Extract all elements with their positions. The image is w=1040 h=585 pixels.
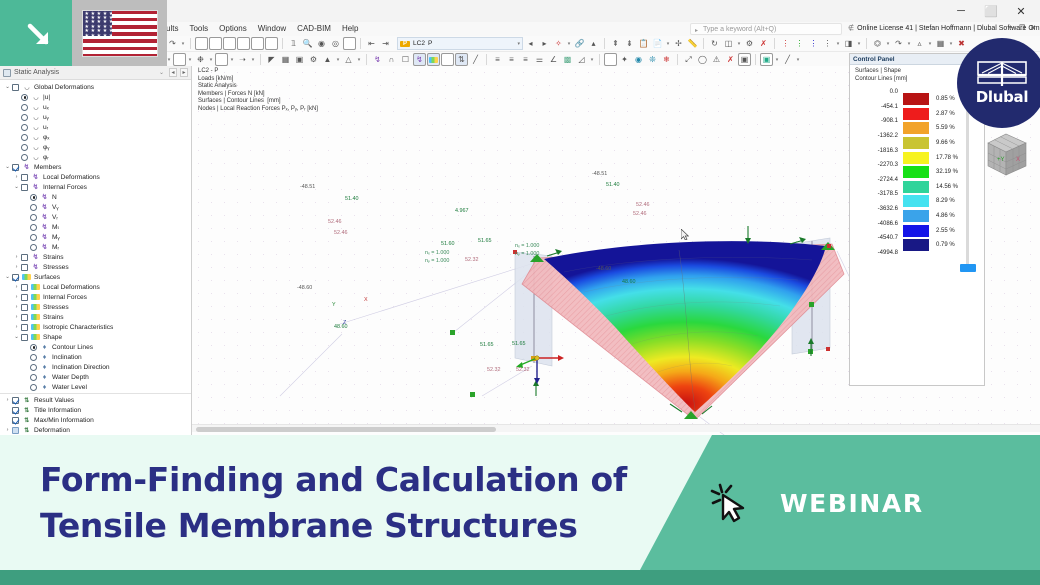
deformation-icon: ◡ (31, 133, 40, 141)
tree-item[interactable]: ›↯Local Deformations (0, 172, 191, 182)
tree-item[interactable]: ›Isotropic Characteristics (0, 322, 191, 332)
result-icon: ⇅ (22, 406, 31, 414)
legend-percentage: 9.66 % (930, 140, 955, 146)
tree-item[interactable]: ↯N (0, 192, 191, 202)
tree-item[interactable]: ◡φᵧ (0, 142, 191, 152)
report-icon[interactable] (265, 37, 278, 50)
tree-item[interactable]: ◡uₓ (0, 102, 191, 112)
calculate-icon[interactable]: 𝟙 (287, 37, 300, 50)
load-case-next-icon[interactable]: ⇥ (379, 37, 392, 50)
legend-slider-thumb[interactable] (960, 264, 976, 272)
tree-item[interactable]: ›⇅Deformation (0, 425, 191, 435)
legend-swatch[interactable] (902, 136, 930, 150)
tree-item[interactable]: ◡φₓ (0, 132, 191, 142)
toolbar-separator (866, 38, 867, 49)
scale-dropdown-icon[interactable]: ▾ (736, 37, 742, 50)
minimize-icon[interactable]: ─ (946, 1, 976, 21)
tree-item-label: φᵧ (43, 144, 49, 151)
tree-item[interactable]: ↯Mᵧ (0, 232, 191, 242)
axis-dropdown-icon[interactable]: ▾ (835, 37, 841, 50)
tree-item-label: Stresses (43, 304, 69, 311)
tree-item[interactable]: ◡uᵧ (0, 112, 191, 122)
tree-item[interactable]: ⇅Max/Min Information (0, 415, 191, 425)
support-dropdown-icon[interactable]: ▾ (885, 37, 891, 50)
tree-checkbox[interactable] (12, 397, 19, 404)
isosurface-icon[interactable]: ≡ (505, 53, 518, 66)
tree-item-label: Vᵧ (52, 204, 59, 211)
screenshot-icon[interactable]: ▣ (738, 53, 751, 66)
tree-checkbox[interactable] (21, 254, 28, 261)
chevron-down-icon[interactable]: ▾ (517, 41, 520, 47)
tree-checkbox[interactable] (21, 324, 28, 331)
legend-swatch[interactable] (902, 194, 930, 208)
menu-items: sults Tools Options Window CAD-BIM Help (162, 22, 358, 36)
legend-slider-track[interactable] (966, 98, 969, 266)
member-icon: ↯ (40, 223, 49, 231)
model-label: nₓ = 1.000 (425, 250, 449, 256)
tree-radio[interactable] (30, 244, 37, 251)
tree-item[interactable]: ↯Vᵣ (0, 212, 191, 222)
shape-icon: ♦ (40, 373, 49, 381)
tree-radio[interactable] (30, 234, 37, 241)
legend-swatch[interactable] (902, 121, 930, 135)
language-flag-badge[interactable]: ★★★★★★★★★★★★★★★★★★★★★★★★★★★★★★★★★ (72, 0, 167, 66)
paste-dropdown-icon[interactable]: ▾ (665, 37, 671, 50)
navigator-tree[interactable]: ⌄◡Global Deformations◡|u|◡uₓ◡uᵧ◡uᵣ◡φₓ◡φᵧ… (0, 80, 191, 393)
tree-radio[interactable] (21, 124, 28, 131)
tree-expander[interactable]: ⌄ (12, 334, 21, 340)
tree-checkbox[interactable] (21, 334, 28, 341)
window-controls: ─ ⬜ ✕ (946, 0, 1036, 22)
tree-item-label: Strains (43, 254, 64, 261)
menu-item-window[interactable]: Window (258, 22, 286, 36)
tree-checkbox[interactable] (12, 164, 19, 171)
menu-item-cadbim[interactable]: CAD-BIM (297, 22, 331, 36)
view-window-icon[interactable] (195, 37, 208, 50)
material-icon[interactable]: ❉ (194, 53, 207, 66)
menu-item-options[interactable]: Options (219, 22, 247, 36)
zoom-region-icon[interactable] (343, 37, 356, 50)
webinar-banner: Form-Finding and Calculation of Tensile … (0, 435, 1040, 585)
keyword-search-input[interactable]: ▸ Type a keyword (Alt+Q) (690, 23, 842, 35)
load-case-chip: P (400, 41, 410, 47)
doc-close-icon[interactable]: ✕ (1030, 23, 1036, 35)
link-icon[interactable]: 🔗 (573, 37, 586, 50)
zoom-out-icon[interactable]: ◎ (329, 37, 342, 50)
tree-item-label: Deformation (34, 427, 70, 434)
doc-minimize-icon[interactable]: ─ (1009, 23, 1014, 35)
tree-item[interactable]: ♦Water Level (0, 382, 191, 392)
dimension-icon[interactable]: ⤢ (682, 53, 695, 66)
tree-radio[interactable] (21, 104, 28, 111)
scale-factor-dropdown-icon[interactable]: ▾ (795, 53, 801, 66)
search-object-icon[interactable]: ⚙ (743, 37, 756, 50)
legend-swatch[interactable] (902, 180, 930, 194)
tree-item-label: Isotropic Characteristics (43, 324, 113, 331)
render-mode-icon[interactable]: ▣ (760, 53, 773, 66)
dlubal-mark-icon (976, 60, 1028, 86)
legend-value: -1816.3 (850, 148, 902, 154)
legend-swatch[interactable] (902, 92, 930, 106)
nodal-support-icon[interactable]: ▲ (321, 53, 334, 66)
polar-icon[interactable]: ❊ (646, 53, 659, 66)
tree-item[interactable]: ♦Contour Lines (0, 342, 191, 352)
viewport-horizontal-scrollbar[interactable] (192, 424, 1040, 432)
surface-gradient-icon (429, 57, 438, 63)
nav-left-icon[interactable]: ◂ (524, 37, 537, 50)
tree-expander[interactable]: › (12, 314, 21, 320)
snap-point-icon[interactable]: ✦ (618, 53, 631, 66)
menu-item-tools[interactable]: Tools (189, 22, 208, 36)
tb2-caret-7[interactable]: ▾ (356, 53, 362, 66)
navigator-tree-bottom[interactable]: ›⇅Result Values⇅Title Information⇅Max/Mi… (0, 393, 191, 435)
banner-title-line2: Tensile Membrane Structures (40, 503, 700, 549)
section-icon[interactable]: ◨ (842, 37, 855, 50)
tree-item[interactable]: ◡φᵣ (0, 152, 191, 162)
toolbar-separator (282, 38, 283, 49)
tree-item[interactable]: ♦Inclination Direction (0, 362, 191, 372)
isobands-icon[interactable]: ≡ (491, 53, 504, 66)
tree-item[interactable]: ◡uᵣ (0, 122, 191, 132)
legend-percentage: 5.59 % (930, 125, 955, 131)
model-label: 52.32 (516, 367, 530, 373)
tb2-caret-6[interactable]: ▾ (335, 53, 341, 66)
rotate-icon[interactable]: ↻ (708, 37, 721, 50)
line-draw-icon[interactable]: ➝ (236, 53, 249, 66)
tree-radio[interactable] (30, 204, 37, 211)
shape-icon: ♦ (40, 353, 49, 361)
toolbar-separator (703, 38, 704, 49)
dlubal-logo-text: Dlubal (976, 88, 1028, 106)
tree-item[interactable]: ›Stresses (0, 302, 191, 312)
copy-icon[interactable]: 📋 (637, 37, 650, 50)
legend-value: -4540.7 (850, 235, 902, 241)
filter-dropdown-icon[interactable]: ▾ (566, 37, 572, 50)
tree-item-label: Surfaces (34, 274, 60, 281)
deformation-icon: ◡ (31, 113, 40, 121)
scale-factor-icon[interactable]: ╱ (781, 53, 794, 66)
legend-swatch[interactable] (902, 238, 930, 252)
tree-radio[interactable] (21, 134, 28, 141)
download-badge[interactable] (0, 0, 72, 66)
tree-radio[interactable] (30, 384, 37, 391)
tree-radio[interactable] (21, 154, 28, 161)
view-render-icon[interactable] (237, 37, 250, 50)
toolbar-separator (755, 54, 756, 65)
legend-swatch[interactable] (902, 151, 930, 165)
shape-icon: ♦ (40, 343, 49, 351)
tree-radio[interactable] (30, 364, 37, 371)
tree-item-label: Contour Lines (52, 344, 93, 351)
delete-object-icon[interactable]: ✗ (757, 37, 770, 50)
cancel-icon[interactable]: ✗ (724, 53, 737, 66)
toolbar-separator (260, 54, 261, 65)
results-surfaces-icon[interactable] (427, 53, 440, 66)
member-icon: ↯ (31, 263, 40, 271)
tree-expander[interactable]: › (12, 284, 21, 290)
angle-icon[interactable]: ∠ (547, 53, 560, 66)
tree-expander[interactable]: › (3, 427, 12, 433)
tree-item[interactable]: ↯Vᵧ (0, 202, 191, 212)
gradient-legend-icon[interactable]: ◿ (575, 53, 588, 66)
tree-radio[interactable] (30, 194, 37, 201)
axis-z-icon[interactable]: ⋮ (807, 37, 820, 50)
load-case-prev-icon[interactable]: ⇤ (365, 37, 378, 50)
tree-radio[interactable] (30, 374, 37, 381)
navigator-title: Static Analysis (14, 69, 156, 76)
legend-swatch[interactable] (902, 165, 930, 179)
show-solids-icon[interactable]: ☐ (399, 53, 412, 66)
undo-icon[interactable]: ↷ (166, 37, 179, 50)
zoom-in-icon[interactable]: 🔍 (301, 37, 314, 50)
tree-item[interactable]: ♦Water Depth (0, 372, 191, 382)
legend-value: -3178.5 (850, 191, 902, 197)
doc-restore-icon[interactable]: ❐ (1019, 23, 1025, 35)
legend-percentage: 8.29 % (930, 198, 955, 204)
axis-all-icon[interactable]: ⋮ (821, 37, 834, 50)
legend-percentage: 2.87 % (930, 111, 955, 117)
maximize-icon[interactable]: ⬜ (976, 1, 1006, 21)
comment-icon[interactable]: ◯ (696, 53, 709, 66)
color-map-icon[interactable]: ▩ (561, 53, 574, 66)
navigator-next-button[interactable]: ▸ (180, 68, 188, 77)
chevron-down-icon[interactable]: ⌄ (159, 69, 164, 76)
surface-draw-icon[interactable]: ◤ (265, 53, 278, 66)
tree-checkbox[interactable] (21, 294, 28, 301)
model-label: -48.60 (297, 285, 312, 291)
model-label: nᵧ = 1.000 (425, 258, 449, 264)
model-label: 52.32 (465, 257, 479, 263)
line-support-icon[interactable]: △ (342, 53, 355, 66)
us-flag-icon: ★★★★★★★★★★★★★★★★★★★★★★★★★★★★★★★★★ (82, 10, 158, 57)
tree-item[interactable]: ♦Inclination (0, 352, 191, 362)
tree-checkbox[interactable] (21, 304, 28, 311)
tb2-caret-5[interactable]: ▾ (250, 53, 256, 66)
load-case-code: LC2 (413, 40, 425, 47)
load-dropdown-icon[interactable]: ▾ (906, 37, 912, 50)
tree-item[interactable]: ◡|u| (0, 92, 191, 102)
view-tile-icon[interactable] (209, 37, 222, 50)
tree-item[interactable]: ⌄Shape (0, 332, 191, 342)
toolbar-separator (366, 54, 367, 65)
tree-radio[interactable] (30, 224, 37, 231)
tree-radio[interactable] (30, 214, 37, 221)
banner-title: Form-Finding and Calculation of Tensile … (40, 457, 700, 549)
measure-icon[interactable]: 📏 (686, 37, 699, 50)
tree-item-label: Vᵣ (52, 214, 58, 221)
view-navigation-cube[interactable]: +Y X (980, 129, 1032, 181)
legend-percentage: 0.79 % (930, 242, 955, 248)
tree-item[interactable]: ⌄↯Members (0, 162, 191, 172)
tree-radio[interactable] (30, 344, 37, 351)
mesh-icon[interactable]: ▴ (587, 37, 600, 50)
tree-radio[interactable] (21, 94, 28, 101)
legend-percentage: 2.55 % (930, 228, 955, 234)
tb2-caret-4[interactable]: ▾ (229, 53, 235, 66)
diagram-icon[interactable]: ⚌ (533, 53, 546, 66)
tb2-caret-3[interactable]: ▾ (208, 53, 214, 66)
tree-expander[interactable]: › (12, 174, 21, 180)
snap-grid-icon[interactable] (604, 53, 617, 66)
toolbar-separator (677, 54, 678, 65)
paste-icon[interactable]: 📄 (651, 37, 664, 50)
tree-radio[interactable] (30, 354, 37, 361)
tree-checkbox[interactable] (21, 314, 28, 321)
warning-icon[interactable]: ⚠ (710, 53, 723, 66)
model-label: 52.46 (328, 219, 342, 225)
toolbar-separator (599, 54, 600, 65)
model-label: 52.46 (633, 211, 647, 217)
tree-expander[interactable]: ⌄ (3, 164, 12, 170)
section-dropdown-icon[interactable]: ▾ (856, 37, 862, 50)
node-dropdown-icon[interactable]: ▾ (927, 37, 933, 50)
opening-icon[interactable]: ▣ (293, 53, 306, 66)
tree-checkbox[interactable] (12, 274, 19, 281)
flag-stars: ★★★★★★★★★★★★★★★★★★★★★★★★★★★★★★★★★ (83, 11, 113, 36)
tree-checkbox[interactable] (12, 417, 19, 424)
tree-item[interactable]: ›↯Strains (0, 252, 191, 262)
surface-icon (31, 333, 40, 341)
axis-x-icon[interactable]: ⋮ (779, 37, 792, 50)
node-icon[interactable]: ▵ (913, 37, 926, 50)
tree-checkbox[interactable] (12, 407, 19, 414)
support-icon[interactable]: ⏣ (871, 37, 884, 50)
svg-text:X: X (1016, 157, 1020, 163)
tree-item-label: Local Deformations (43, 174, 100, 181)
tb2-caret-8[interactable]: ▾ (589, 53, 595, 66)
legend-swatch[interactable] (902, 209, 930, 223)
grid-icon[interactable]: ▦ (934, 37, 947, 50)
tree-item[interactable]: ⌄Surfaces (0, 272, 191, 282)
legend-value: -908.1 (850, 118, 902, 124)
tree-expander[interactable]: › (12, 294, 21, 300)
grid-dropdown-icon[interactable]: ▾ (948, 37, 954, 50)
dim-up-icon[interactable]: ⇞ (609, 37, 622, 50)
tree-item[interactable]: ›Internal Forces (0, 292, 191, 302)
dlubal-logo: Dlubal (957, 38, 1040, 128)
tree-item-label: Result Values (34, 397, 74, 404)
tree-item[interactable]: ›⇅Result Values (0, 395, 191, 405)
osnap-icon[interactable]: ❄ (660, 53, 673, 66)
tree-expander[interactable]: › (12, 324, 21, 330)
close-icon[interactable]: ✕ (1006, 1, 1036, 21)
legend-percentage: 0.85 % (930, 96, 955, 102)
navigator-header: Static Analysis ⌄ ◂ ▸ (0, 66, 191, 80)
tree-expander[interactable]: › (12, 254, 21, 260)
move-icon[interactable]: ✢ (672, 37, 685, 50)
model-label: 51.65 (478, 238, 492, 244)
load-icon[interactable]: ↷ (892, 37, 905, 50)
tree-expander[interactable]: ⌄ (12, 184, 21, 190)
toolbar-separator (360, 38, 361, 49)
tree-checkbox[interactable] (21, 184, 28, 191)
undo-dropdown-icon[interactable]: ▾ (180, 37, 186, 50)
tree-item[interactable]: ›⇅Support Reactions (0, 392, 191, 393)
section-library-icon[interactable] (215, 53, 228, 66)
view-split-icon[interactable] (223, 37, 236, 50)
render-dropdown-icon[interactable]: ▾ (774, 53, 780, 66)
member-icon: ↯ (31, 183, 40, 191)
load-case-selector[interactable]: P LC2 P ▾ (397, 37, 523, 50)
clear-results-icon[interactable]: ✖ (955, 37, 968, 50)
print-icon[interactable] (251, 37, 264, 50)
release-icon[interactable]: ⚙ (307, 53, 320, 66)
tb2-caret-2[interactable]: ▾ (187, 53, 193, 66)
tree-checkbox[interactable] (21, 264, 28, 271)
license-icon: ∉ (848, 23, 854, 35)
model-label: -48.60 (596, 266, 611, 272)
navigator-icon (3, 69, 11, 77)
toolbar-separator (486, 54, 487, 65)
contour-icon[interactable]: ≡ (519, 53, 532, 66)
tree-checkbox[interactable] (21, 174, 28, 181)
isoline-icon[interactable]: ╱ (469, 53, 482, 66)
tree-checkbox[interactable] (21, 284, 28, 291)
dim-down-icon[interactable]: ⇟ (623, 37, 636, 50)
results-members-icon[interactable]: ↯ (413, 53, 426, 66)
legend-swatch[interactable] (902, 107, 930, 121)
tree-expander[interactable]: › (3, 397, 12, 403)
tree-expander[interactable]: › (12, 264, 21, 270)
member-icon: ↯ (40, 233, 49, 241)
tree-item[interactable]: ↯Mₜ (0, 222, 191, 232)
show-members-icon[interactable]: ∩ (385, 53, 398, 66)
tree-checkbox[interactable] (12, 84, 19, 91)
tree-item[interactable]: ›↯Stresses (0, 262, 191, 272)
ortho-icon[interactable]: ◉ (632, 53, 645, 66)
zoom-fit-icon[interactable]: ◉ (315, 37, 328, 50)
menu-item-help[interactable]: Help (342, 22, 358, 36)
tree-item[interactable]: ↯Mᵣ (0, 242, 191, 252)
tree-item-label: Local Deformations (43, 284, 100, 291)
legend-swatch[interactable] (902, 224, 930, 238)
new-model-icon[interactable] (173, 53, 186, 66)
tree-radio[interactable] (21, 114, 28, 121)
shape-icon: ♦ (40, 363, 49, 371)
member-icon: ↯ (31, 173, 40, 181)
tree-checkbox[interactable] (12, 427, 19, 434)
webinar-label: WEBINAR (780, 489, 924, 518)
legend-percentage: 17.78 % (930, 155, 958, 161)
tree-item[interactable]: ›Local Deformations (0, 282, 191, 292)
filter-icon[interactable]: ✧ (552, 37, 565, 50)
model-label: 52.32 (487, 367, 501, 373)
show-deformation-icon[interactable]: ↯ (371, 53, 384, 66)
tree-radio[interactable] (21, 144, 28, 151)
result-icon: ⇅ (22, 396, 31, 404)
axis-y-icon[interactable]: ⋮ (793, 37, 806, 50)
nav-right-icon[interactable]: ▸ (538, 37, 551, 50)
tree-item[interactable]: ⇅Title Information (0, 405, 191, 415)
scrollbar-thumb[interactable] (196, 427, 496, 432)
results-solids-icon[interactable] (441, 53, 454, 66)
scale-icon[interactable]: ◫ (722, 37, 735, 50)
tree-item[interactable]: ⌄◡Global Deformations (0, 82, 191, 92)
results-values-icon[interactable]: ⇅ (455, 53, 468, 66)
tree-item-label: Strains (43, 314, 64, 321)
tree-expander[interactable]: › (12, 304, 21, 310)
click-cursor-icon (710, 481, 754, 525)
tree-expander[interactable]: ⌄ (3, 274, 12, 280)
legend-percentage: 4.86 % (930, 213, 955, 219)
surface-icon (31, 313, 40, 321)
tree-expander[interactable]: ⌄ (3, 84, 12, 90)
tree-item[interactable]: ⌄↯Internal Forces (0, 182, 191, 192)
toolbar-separator (604, 38, 605, 49)
tree-item[interactable]: ›Strains (0, 312, 191, 322)
solid-icon[interactable]: ▦ (279, 53, 292, 66)
navigator-prev-button[interactable]: ◂ (169, 68, 177, 77)
